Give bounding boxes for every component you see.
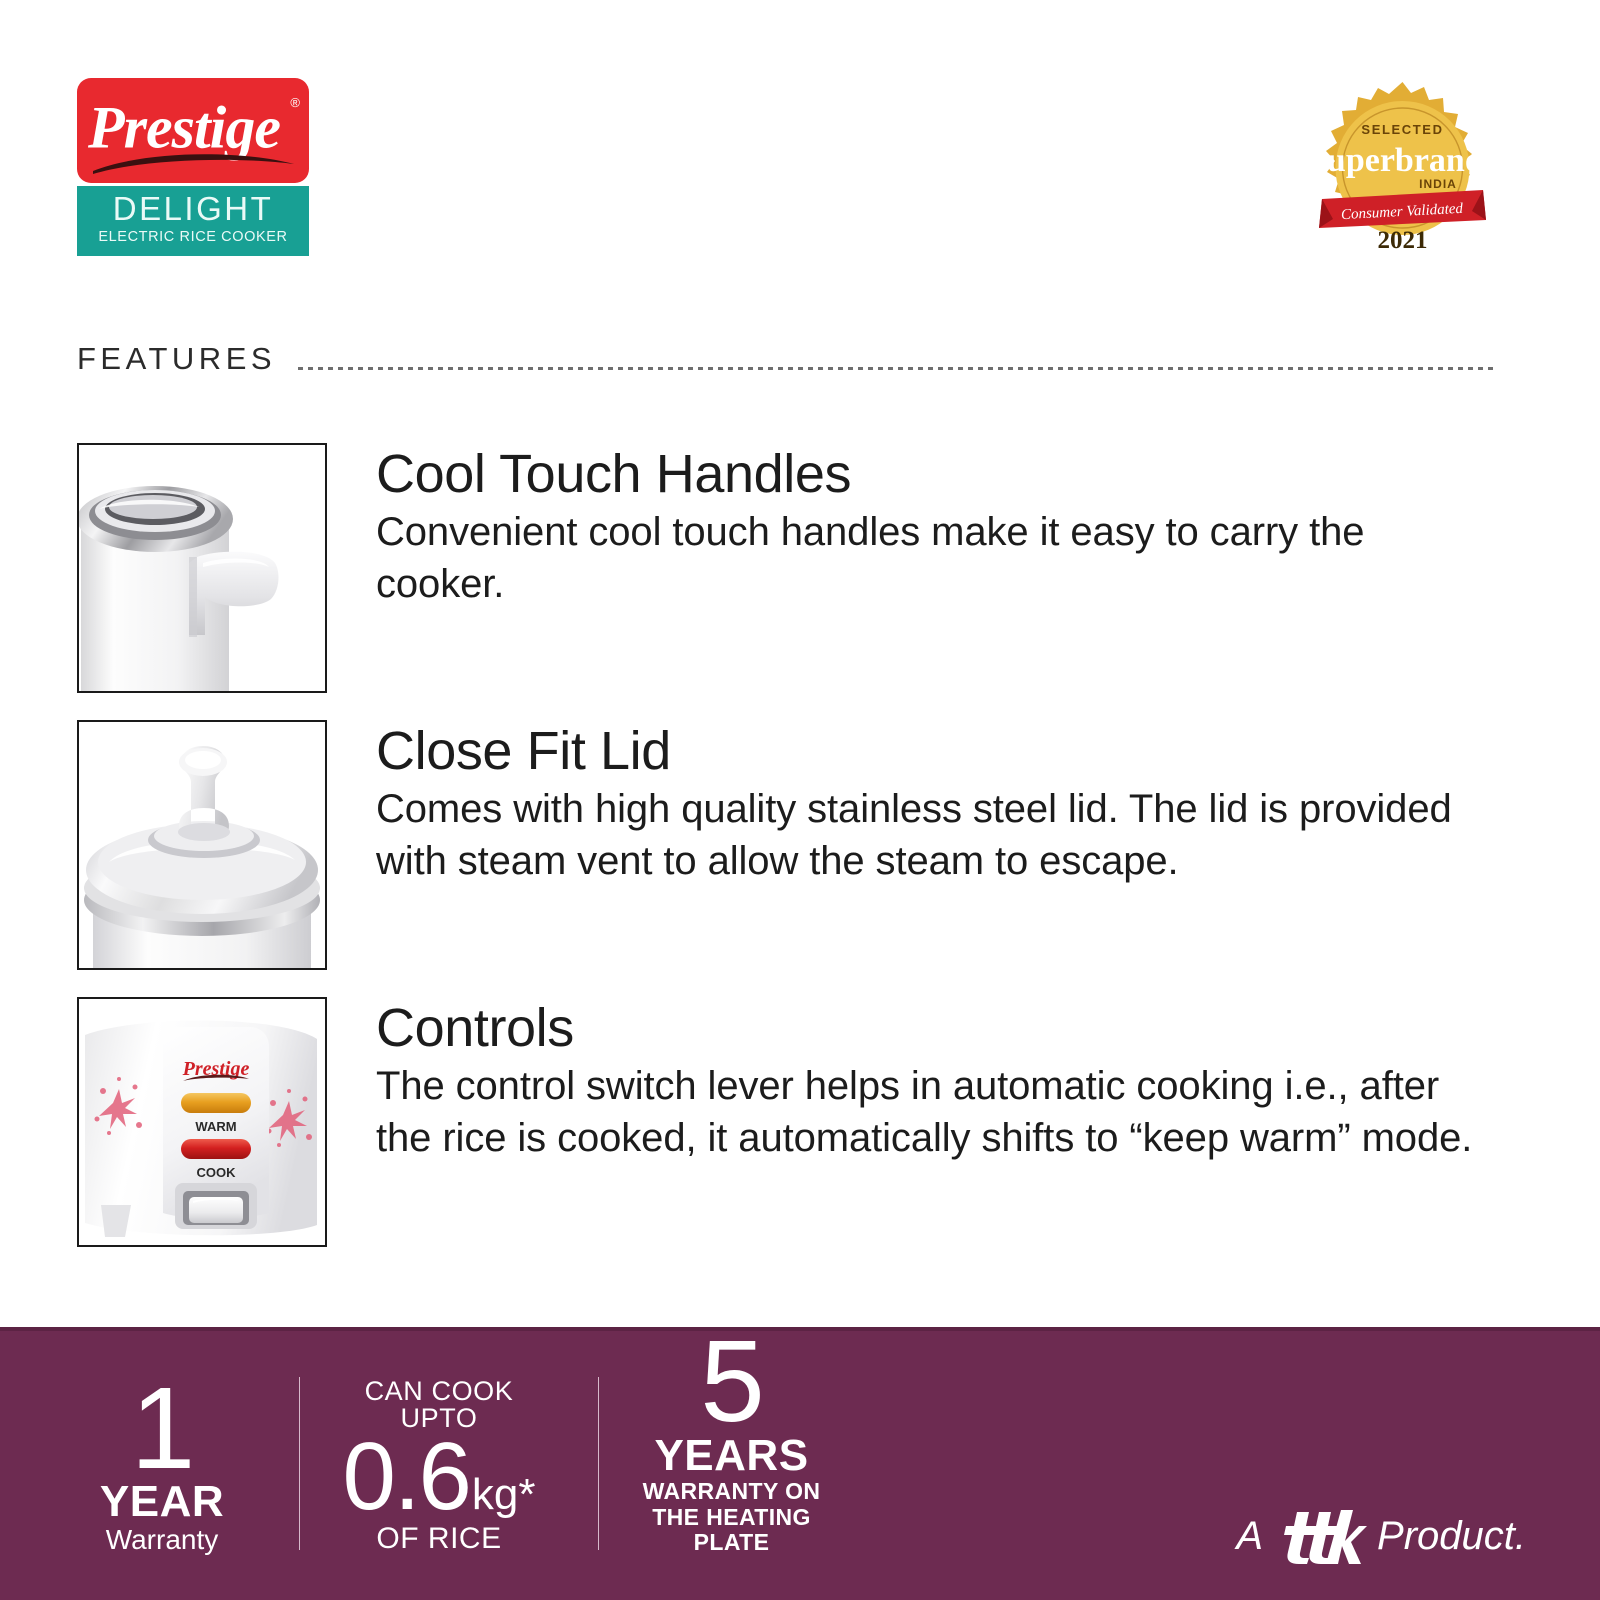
ttk-logo-icon — [1275, 1508, 1367, 1564]
stat-note: Warranty — [106, 1525, 219, 1556]
svg-text:INDIA: INDIA — [1419, 177, 1457, 191]
brand-logo-teal-block: DELIGHT ELECTRIC RICE COOKER — [77, 186, 309, 256]
feature-item: Prestige WARM COOK Controls The control … — [77, 997, 1497, 1247]
stat-unit: kg* — [472, 1475, 536, 1515]
stat-heating-plate-warranty: 5 YEARS WARRANTY ON THE HEATING PLATE — [639, 1349, 824, 1564]
features-label: FEATURES — [77, 343, 276, 374]
brand-logo: Prestige ® DELIGHT ELECTRIC RICE COOKER — [77, 78, 309, 256]
features-heading: FEATURES — [77, 330, 1497, 374]
header: Prestige ® DELIGHT ELECTRIC RICE COOKER … — [0, 0, 1600, 300]
feature-item: Cool Touch Handles Convenient cool touch… — [77, 443, 1497, 693]
spacer — [300, 1349, 324, 1564]
superbrands-badge-icon: SELECTED Superbrands INDIA Consumer Vali… — [1310, 78, 1495, 263]
svg-text:WARM: WARM — [195, 1119, 236, 1134]
registered-mark: ® — [290, 95, 300, 110]
feature-title: Close Fit Lid — [376, 722, 1497, 780]
signature-suffix: Product. — [1377, 1516, 1526, 1556]
spacer — [247, 1349, 299, 1564]
feature-text: Close Fit Lid Comes with high quality st… — [376, 720, 1497, 887]
svg-text:COOK: COOK — [197, 1165, 237, 1180]
svg-text:2021: 2021 — [1378, 227, 1428, 254]
product-category-label: ELECTRIC RICE COOKER — [77, 230, 309, 245]
svg-text:SELECTED: SELECTED — [1361, 122, 1443, 137]
footer-bar: 1 YEAR Warranty CAN COOK UPTO 0.6 kg* OF… — [0, 1327, 1600, 1600]
stat-warranty-years: 1 YEAR Warranty — [77, 1349, 247, 1564]
stat-note: OF RICE — [376, 1522, 501, 1556]
stat-value: 0.6 — [342, 1434, 469, 1520]
feature-body: The control switch lever helps in automa… — [376, 1061, 1497, 1163]
stat-value: 5 — [700, 1330, 763, 1432]
feature-image-close-fit-lid — [77, 720, 327, 970]
feature-image-cool-touch-handles — [77, 443, 327, 693]
stat-value: 1 — [131, 1377, 194, 1479]
product-line-label: DELIGHT — [77, 192, 309, 225]
feature-body: Comes with high quality stainless steel … — [376, 784, 1497, 886]
feature-list: Cool Touch Handles Convenient cool touch… — [77, 443, 1497, 1247]
feature-item: Close Fit Lid Comes with high quality st… — [77, 720, 1497, 970]
stat-note-line2: THE HEATING PLATE — [639, 1505, 824, 1557]
stat-capacity: CAN COOK UPTO 0.6 kg* OF RICE — [324, 1349, 554, 1564]
signature-prefix: A — [1236, 1516, 1263, 1556]
brand-logo-red-block: Prestige ® — [77, 78, 309, 183]
features-dashed-rule — [298, 359, 1497, 370]
svg-text:Superbrands: Superbrands — [1310, 142, 1495, 179]
stat-unit: YEAR — [100, 1479, 224, 1525]
feature-title: Cool Touch Handles — [376, 445, 1497, 503]
brand-swoosh-icon — [91, 148, 296, 174]
stat-amount-row: 0.6 kg* — [342, 1434, 535, 1520]
feature-body: Convenient cool touch handles make it ea… — [376, 507, 1497, 609]
feature-image-controls: Prestige WARM COOK — [77, 997, 327, 1247]
feature-text: Controls The control switch lever helps … — [376, 997, 1497, 1164]
ttk-signature: A Product. — [1236, 1508, 1526, 1564]
spacer — [599, 1349, 639, 1564]
feature-text: Cool Touch Handles Convenient cool touch… — [376, 443, 1497, 610]
stat-note-line1: WARRANTY ON — [643, 1479, 821, 1505]
spacer — [554, 1349, 598, 1564]
stat-unit: YEARS — [654, 1433, 808, 1479]
feature-title: Controls — [376, 999, 1497, 1057]
spec-stats: 1 YEAR Warranty CAN COOK UPTO 0.6 kg* OF… — [77, 1349, 824, 1564]
